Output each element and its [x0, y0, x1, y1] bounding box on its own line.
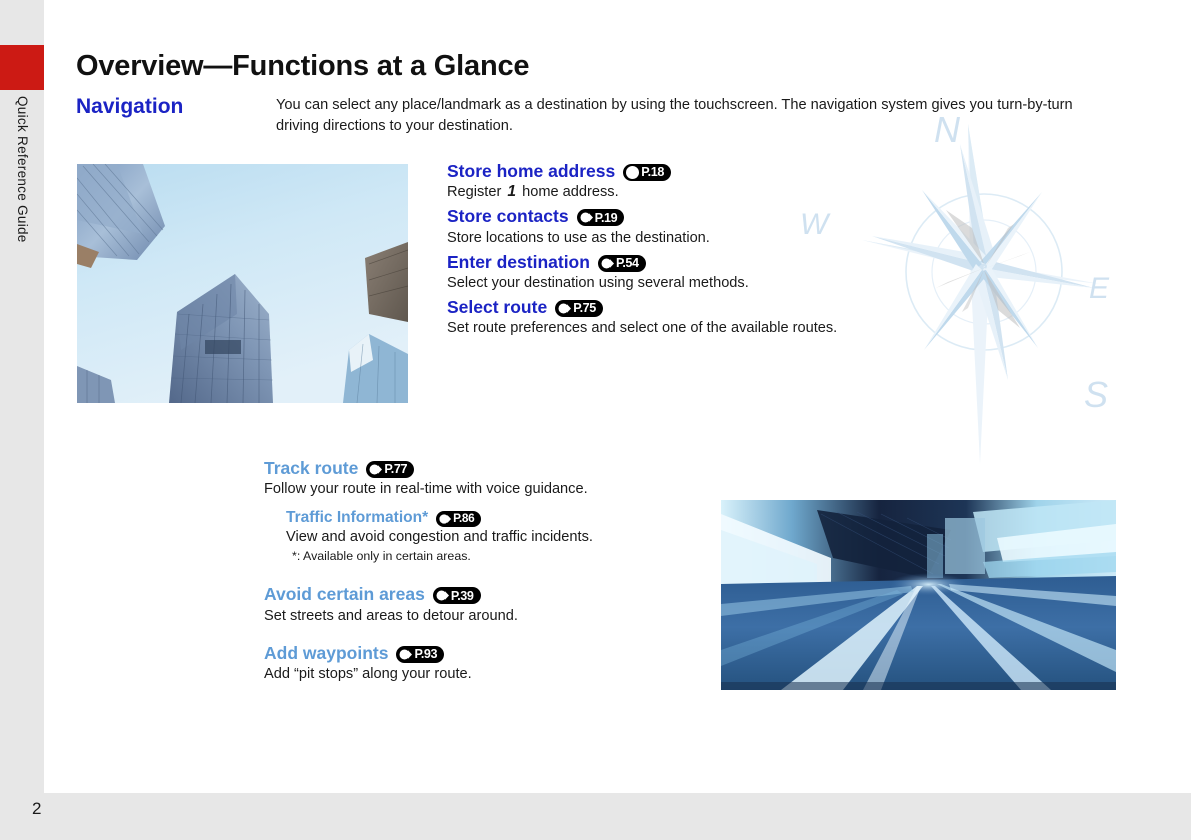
sidebar-tab-marker [0, 45, 44, 90]
feature-heading: Store home address P.18 [447, 162, 927, 181]
sidebar-tab-label-wrap: Quick Reference Guide [0, 96, 44, 426]
feature-select-route[interactable]: Select route P.75 Set route preferences … [447, 298, 927, 338]
feature-traffic-information[interactable]: Traffic Information* P.86 View and avoid… [286, 509, 734, 563]
page-ref-number: P.18 [641, 166, 664, 179]
feature-title: Store home address [447, 162, 615, 181]
page-title: Overview—Functions at a Glance [76, 50, 529, 83]
feature-heading: Add waypoints P.93 [264, 644, 734, 663]
arrow-right-circle-icon [600, 256, 615, 271]
compass-label-east: E [1089, 272, 1109, 306]
desc-part-before: Register [447, 184, 505, 200]
city-skyline-photo [77, 164, 408, 403]
arrow-right-circle-icon [557, 301, 572, 316]
desc-part-after: home address. [518, 184, 619, 200]
page-ref-number: P.39 [451, 590, 474, 603]
feature-title: Avoid certain areas [264, 585, 425, 604]
feature-title: Track route [264, 459, 358, 478]
section-label-navigation: Navigation [76, 95, 183, 119]
feature-list-navigation-setup: Store home address P.18 Register 1 home … [447, 162, 927, 343]
feature-description: Follow your route in real-time with voic… [264, 479, 734, 499]
feature-heading: Select route P.75 [447, 298, 927, 317]
arrow-right-circle-icon [435, 588, 450, 603]
intro-paragraph: You can select any place/landmark as a d… [276, 95, 1098, 137]
feature-heading: Track route P.77 [264, 459, 734, 478]
page-ref-number: P.77 [384, 463, 407, 476]
sidebar-tab: Quick Reference Guide [0, 0, 44, 793]
feature-list-navigation-guidance: Track route P.77 Follow your route in re… [264, 459, 734, 689]
page-ref-badge[interactable]: P.75 [555, 300, 603, 317]
feature-title: Add waypoints [264, 644, 388, 663]
feature-description: Register 1 home address. [447, 182, 927, 202]
feature-store-contacts[interactable]: Store contacts P.19 Store locations to u… [447, 207, 927, 247]
feature-title: Traffic Information* [286, 509, 428, 526]
arrow-right-circle-icon [398, 647, 413, 662]
page-ref-badge[interactable]: P.86 [436, 511, 481, 527]
page-ref-badge[interactable]: P.18 [623, 164, 671, 181]
page-ref-number: P.93 [414, 648, 437, 661]
feature-title: Enter destination [447, 253, 590, 272]
sidebar-tab-label: Quick Reference Guide [0, 96, 44, 243]
feature-track-route[interactable]: Track route P.77 Follow your route in re… [264, 459, 734, 499]
feature-heading: Store contacts P.19 [447, 207, 927, 226]
feature-description: Set route preferences and select one of … [447, 318, 927, 338]
feature-description: Add “pit stops” along your route. [264, 664, 734, 684]
feature-description: Select your destination using several me… [447, 273, 927, 293]
feature-heading: Traffic Information* P.86 [286, 509, 734, 526]
feature-heading: Enter destination P.54 [447, 253, 927, 272]
feature-footnote: *: Available only in certain areas. [292, 549, 734, 563]
arrow-right-circle-icon [579, 210, 594, 225]
page-ref-badge[interactable]: P.77 [366, 461, 414, 478]
page-root: Quick Reference Guide Overview—Functions… [0, 0, 1191, 840]
arrow-right-circle-icon [368, 462, 383, 477]
page-ref-badge[interactable]: P.93 [396, 646, 444, 663]
feature-title: Store contacts [447, 207, 569, 226]
feature-heading: Avoid certain areas P.39 [264, 585, 734, 604]
page-ref-number: P.54 [616, 257, 639, 270]
page-footer [0, 793, 1191, 840]
feature-description: Set streets and areas to detour around. [264, 606, 734, 626]
page-ref-badge[interactable]: P.19 [577, 209, 625, 226]
feature-enter-destination[interactable]: Enter destination P.54 Select your desti… [447, 253, 927, 293]
feature-add-waypoints[interactable]: Add waypoints P.93 Add “pit stops” along… [264, 644, 734, 684]
feature-title: Select route [447, 298, 547, 317]
arrow-right-circle-icon [438, 512, 452, 526]
page-ref-number: P.19 [595, 212, 618, 225]
feature-avoid-certain-areas[interactable]: Avoid certain areas P.39 Set streets and… [264, 585, 734, 625]
page-ref-number: P.75 [573, 302, 596, 315]
tunnel-road-photo [721, 500, 1116, 690]
page-ref-badge[interactable]: P.54 [598, 255, 646, 272]
page-ref-badge[interactable]: P.39 [433, 587, 481, 604]
arrow-right-circle-icon [625, 165, 640, 180]
feature-description: Store locations to use as the destinatio… [447, 228, 927, 248]
feature-description: View and avoid congestion and traffic in… [286, 527, 734, 547]
feature-store-home-address[interactable]: Store home address P.18 Register 1 home … [447, 162, 927, 202]
desc-emphasis-number: 1 [505, 183, 518, 200]
page-number: 2 [32, 799, 41, 819]
page-ref-number: P.86 [453, 513, 474, 525]
